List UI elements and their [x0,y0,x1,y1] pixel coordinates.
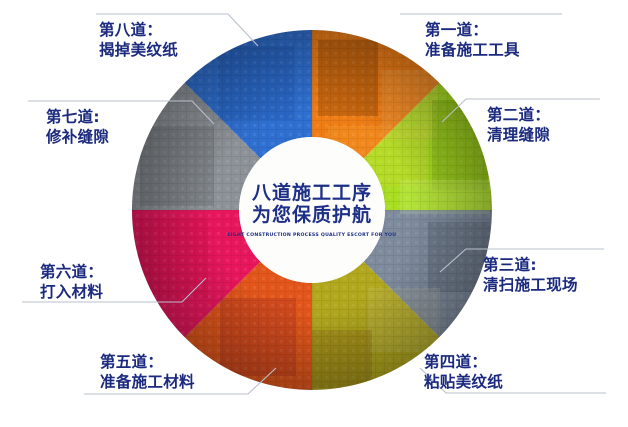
label-step-7[interactable]: 第七道: 修补缝隙 [46,107,109,147]
label-step-6-subtitle: 打入材料 [40,282,103,302]
label-step-7-subtitle: 修补缝隙 [46,127,109,147]
center-line-2: 为您保质护航 [252,204,372,226]
center-hub: 八道施工工序 为您保质护航 EIGHT CONSTRUCTION PROCESS… [239,137,385,283]
label-step-4[interactable]: 第四道： 粘贴美纹纸 [424,352,503,392]
label-step-6-title: 第六道： [40,262,103,282]
process-wheel: 八道施工工序 为您保质护航 EIGHT CONSTRUCTION PROCESS… [132,30,492,390]
label-step-8-title: 第八道： [99,20,178,40]
label-step-4-subtitle: 粘贴美纹纸 [424,372,503,392]
label-step-2-subtitle: 清理缝隙 [487,125,550,145]
label-step-6[interactable]: 第六道： 打入材料 [40,262,103,302]
label-step-5-title: 第五道： [100,352,195,372]
center-line-1: 八道施工工序 [252,182,372,204]
label-step-3-subtitle: 清扫施工现场 [483,275,578,295]
label-step-2[interactable]: 第二道： 清理缝隙 [487,105,550,145]
label-step-1[interactable]: 第一道： 准备施工工具 [425,20,520,60]
center-english-subtitle: EIGHT CONSTRUCTION PROCESS QUALITY ESCOR… [227,233,396,238]
label-step-7-title: 第七道: [46,107,109,127]
label-step-4-title: 第四道： [424,352,503,372]
label-step-1-title: 第一道： [425,20,520,40]
label-step-5-subtitle: 准备施工材料 [100,372,195,392]
label-step-8-subtitle: 揭掉美纹纸 [99,40,178,60]
label-step-3-title: 第三道: [483,255,578,275]
label-step-8[interactable]: 第八道： 揭掉美纹纸 [99,20,178,60]
label-step-3[interactable]: 第三道: 清扫施工现场 [483,255,578,295]
label-step-2-title: 第二道： [487,105,550,125]
label-step-5[interactable]: 第五道： 准备施工材料 [100,352,195,392]
infographic-root: 八道施工工序 为您保质护航 EIGHT CONSTRUCTION PROCESS… [0,0,628,427]
label-step-1-subtitle: 准备施工工具 [425,40,520,60]
